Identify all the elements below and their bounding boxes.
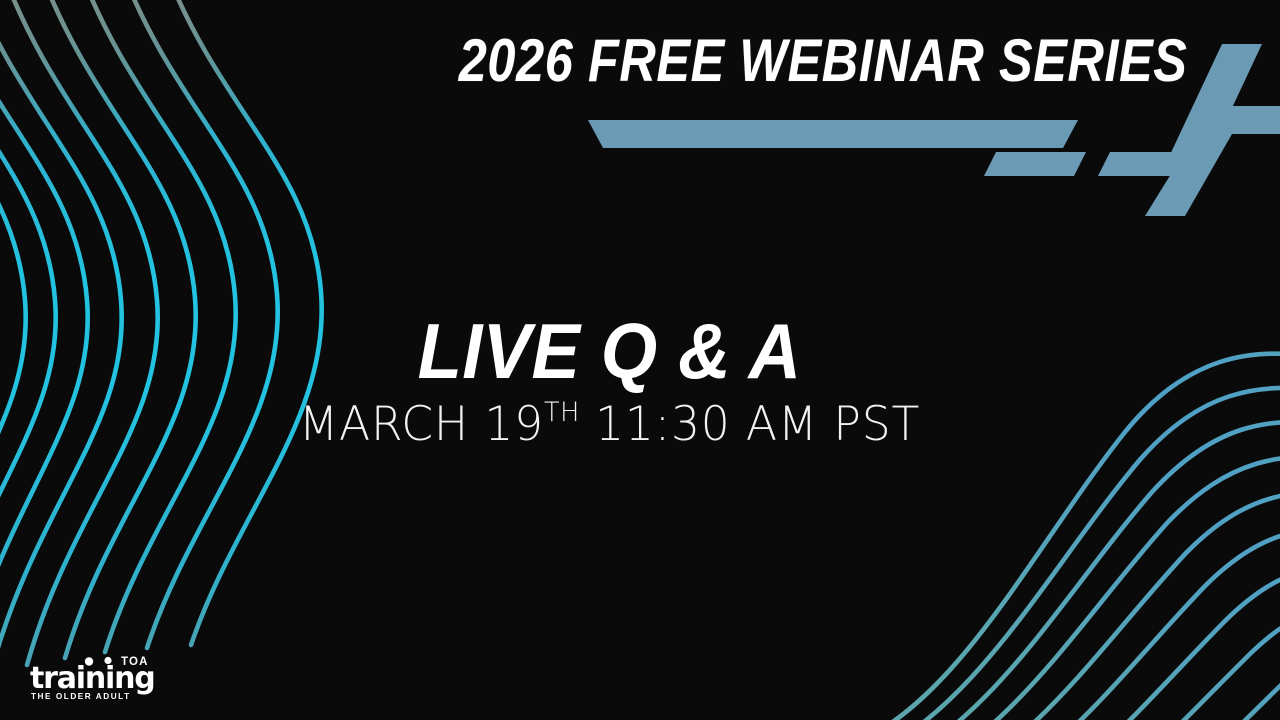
event-date-prefix: MARCH 19 — [299, 397, 544, 452]
center-content-block: LIVE Q & A MARCH 19TH 11:30 AM PST — [0, 312, 1219, 449]
accent-slash-right — [1145, 106, 1280, 216]
accent-bar-primary — [588, 120, 1078, 148]
brand-logo: TOA training THE OLDER ADULT — [28, 652, 160, 702]
webinar-promo-slide: 2026 FREE WEBINAR SERIES LIVE Q & A MARC… — [0, 0, 1280, 720]
accent-bar-tertiary — [1098, 152, 1196, 176]
logo-tagline: THE OLDER ADULT — [31, 692, 131, 701]
event-date-ordinal: TH — [544, 398, 580, 428]
accent-bar-secondary — [984, 152, 1086, 176]
header-title: 2026 FREE WEBINAR SERIES — [459, 31, 1188, 91]
event-time: 11:30 AM PST — [580, 397, 920, 452]
main-headline: LIVE Q & A — [43, 312, 1177, 392]
logo-artwork: TOA training THE OLDER ADULT — [28, 652, 160, 702]
logo-wordmark: training — [30, 661, 155, 696]
event-datetime: MARCH 19TH 11:30 AM PST — [18, 400, 1200, 449]
